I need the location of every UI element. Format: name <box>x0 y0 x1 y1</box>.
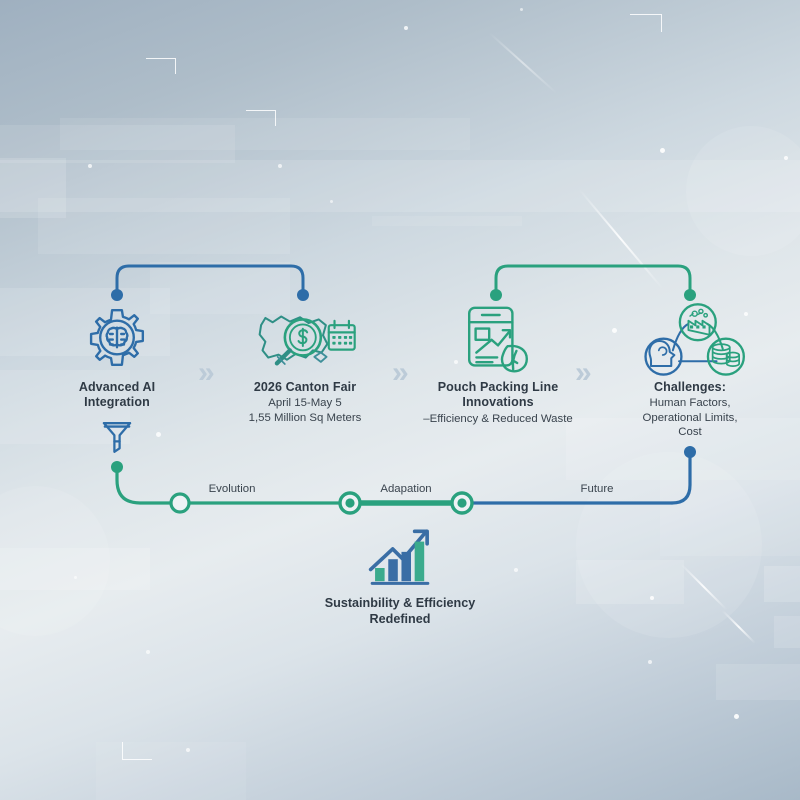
bar-chart-growth-icon <box>270 524 530 590</box>
node-subtitle: April 15-May 5 1,55 Million Sq Meters <box>210 396 400 425</box>
node-title: Pouch Packing Line Innovations <box>403 380 593 411</box>
separator-chevron-icon: » <box>198 358 210 388</box>
node-title: Advanced AI Integration <box>22 380 212 411</box>
node-title-line1: Challenges: <box>595 380 785 395</box>
timeline-label-adapation: Adapation <box>336 483 476 495</box>
node-title-line2: Innovations <box>403 395 593 410</box>
node-subtitle-line3: Cost <box>595 425 785 440</box>
node-title-line1: Advanced AI <box>22 380 212 395</box>
node-advanced-ai[interactable]: Advanced AI Integration <box>22 302 212 457</box>
node-title-line2: Integration <box>22 395 212 410</box>
node-title: 2026 Canton Fair <box>210 380 400 395</box>
document-growth-leaf-icon <box>403 302 593 380</box>
node-subtitle-line2: Operational Limits, <box>595 411 785 426</box>
bottom-node-title-line1: Sustainbility & Efficiency <box>270 596 530 612</box>
node-subtitle-line1: Human Factors, <box>595 396 785 411</box>
node-subtitle: –Efficiency & Reduced Waste <box>403 412 593 427</box>
map-magnifier-dollar-calendar-icon <box>210 302 400 380</box>
node-canton-fair[interactable]: 2026 Canton Fair April 15-May 5 1,55 Mil… <box>210 302 400 425</box>
node-pouch-packing[interactable]: Pouch Packing Line Innovations –Efficien… <box>403 302 593 426</box>
node-sustainability[interactable]: Sustainbility & Efficiency Redefined <box>270 524 530 627</box>
bottom-node-title: Sustainbility & Efficiency Redefined <box>270 596 530 627</box>
node-challenges[interactable]: Challenges: Human Factors, Operational L… <box>595 302 785 440</box>
timeline-label-future: Future <box>527 483 667 495</box>
infographic-canvas: Advanced AI Integration » <box>0 0 800 800</box>
gear-brain-icon <box>22 302 212 380</box>
node-subtitle-line1: April 15-May 5 <box>210 396 400 411</box>
funnel-icon <box>22 417 212 457</box>
node-subtitle-line1: –Efficiency & Reduced Waste <box>403 412 593 427</box>
separator-chevron-icon: » <box>392 358 404 388</box>
factory-head-coins-cluster-icon <box>595 302 785 380</box>
separator-chevron-icon: » <box>575 358 587 388</box>
node-title: Challenges: <box>595 380 785 395</box>
node-title-line1: Pouch Packing Line <box>403 380 593 395</box>
node-title-line1: 2026 Canton Fair <box>210 380 400 395</box>
bottom-node-title-line2: Redefined <box>270 612 530 628</box>
node-subtitle-line2: 1,55 Million Sq Meters <box>210 411 400 426</box>
timeline-label-evolution: Evolution <box>162 483 302 495</box>
node-subtitle: Human Factors, Operational Limits, Cost <box>595 396 785 440</box>
